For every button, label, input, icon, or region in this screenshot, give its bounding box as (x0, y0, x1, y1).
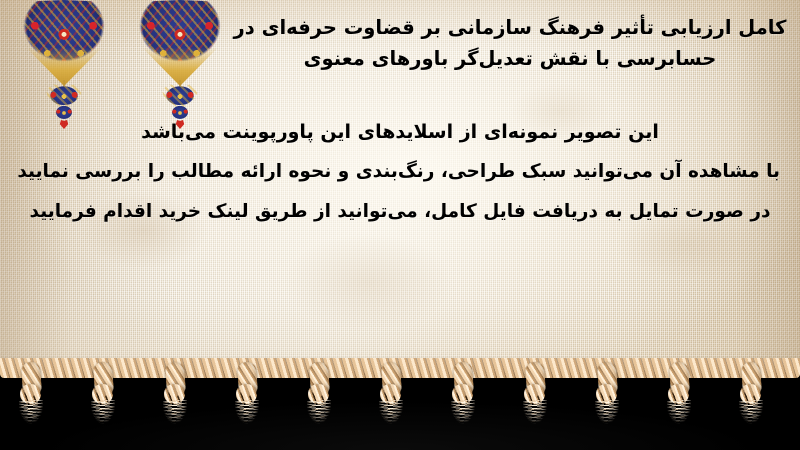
slide-title-line-1: کامل ارزیابی تأثیر فرهنگ سازمانی بر قضاو… (234, 16, 787, 39)
carpet-fringe-tassels (0, 360, 800, 450)
fringe-tassel (304, 360, 334, 444)
fringe-tassel (664, 360, 694, 444)
fringe-tassel (88, 360, 118, 444)
fringe-tassel (376, 360, 406, 444)
fringe-tassel (232, 360, 262, 444)
body-line-3: در صورت تمایل به دریافت فایل کامل، می‌تو… (20, 192, 780, 232)
slide-title: کامل ارزیابی تأثیر فرهنگ سازمانی بر قضاو… (230, 12, 790, 74)
fringe-tassel (520, 360, 550, 444)
fringe-tassel (736, 360, 766, 444)
body-line-1: این تصویر نمونه‌ای از اسلایدهای این پاور… (20, 112, 780, 152)
fringe-tassel (160, 360, 190, 444)
slide-body: این تصویر نمونه‌ای از اسلایدهای این پاور… (20, 112, 780, 232)
fringe-tassel (592, 360, 622, 444)
slide-canvas: کامل ارزیابی تأثیر فرهنگ سازمانی بر قضاو… (0, 0, 800, 450)
fringe-tassel (448, 360, 478, 444)
fringe-tassel (16, 360, 46, 444)
text-layer: کامل ارزیابی تأثیر فرهنگ سازمانی بر قضاو… (0, 0, 800, 372)
slide-title-line-2: حسابرسی با نقش تعدیل‌گر باورهای معنوی (304, 47, 717, 70)
body-line-2: با مشاهده آن می‌توانید سبک طراحی، رنگ‌بن… (20, 152, 780, 192)
